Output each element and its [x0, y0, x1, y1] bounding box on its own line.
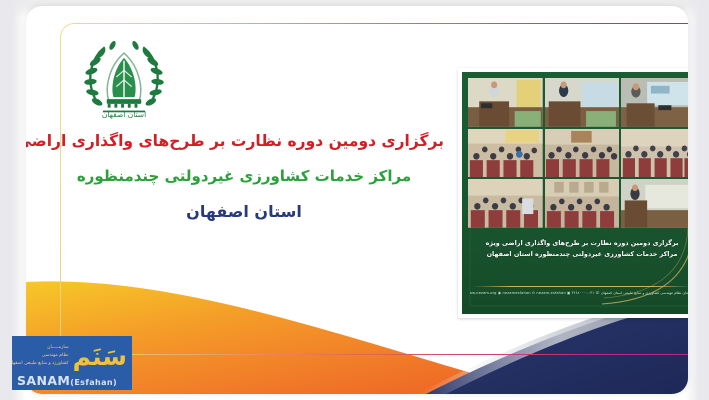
sanam-fa-line-3: کشاورزد و منابع طبیعی اصفهان — [12, 360, 69, 368]
headline-line-2: مراکز خدمات کشاورزی غیردولتی چندمنظوره — [44, 165, 444, 188]
headline-line-3: استان اصفهان — [44, 200, 444, 224]
poster-title-line-1: برگزاری دومین دوره نظارت بر طرح‌های واگذ… — [470, 238, 688, 249]
sanam-logo-row: سَنَم سازمـــــان نظام مهندسی کشاورزد و … — [17, 339, 127, 373]
headline-block: برگزاری دومین دوره نظارت بر طرح‌های واگذ… — [44, 130, 444, 224]
poster-title-block: برگزاری دومین دوره نظارت بر طرح‌های واگذ… — [470, 238, 688, 260]
slide-canvas: استان اصفهان برگزاری دومین دوره نظارت بر… — [0, 0, 709, 400]
headline-line-1: برگزاری دومین دوره نظارت بر طرح‌های واگذ… — [44, 130, 444, 153]
event-poster[interactable]: برگزاری دومین دوره نظارت بر طرح‌های واگذ… — [458, 68, 688, 318]
sanam-fa-line-2: نظام مهندسی — [12, 352, 69, 360]
sanam-subtitle-fa: سازمـــــان نظام مهندسی کشاورزد و منابع … — [12, 344, 69, 367]
poster-photo — [621, 179, 688, 228]
poster-photo — [621, 78, 688, 127]
poster-photo-grid — [468, 78, 688, 228]
poster-divider — [472, 286, 688, 287]
sanam-fa-line-1: سازمـــــان — [12, 344, 69, 352]
sanam-name-en-main: SANAM — [17, 373, 70, 388]
sanam-name-en-suffix: (Esfahan) — [70, 378, 117, 387]
emblem-caption: استان اصفهان — [76, 110, 172, 119]
sanam-name-en: SANAM(Esfahan) — [17, 375, 127, 388]
poster-title-line-2: مراکز خدمات کشاورزی غیردولتی چندمنظوره ا… — [470, 249, 688, 260]
poster-photo — [468, 179, 543, 228]
poster-photo — [545, 129, 620, 178]
poster-contact-line: سازمان نظام مهندسی کشاورزی و منابع طبیعی… — [470, 291, 688, 295]
sanam-logo[interactable]: سَنَم سازمـــــان نظام مهندسی کشاورزد و … — [12, 336, 132, 390]
poster-photo — [545, 78, 620, 127]
poster-photo — [468, 78, 543, 127]
sanam-mark-fa: سَنَم — [73, 344, 127, 369]
poster-body: برگزاری دومین دوره نظارت بر طرح‌های واگذ… — [462, 72, 688, 314]
poster-photo — [468, 129, 543, 178]
poster-photo — [545, 179, 620, 228]
poster-photo — [621, 129, 688, 178]
